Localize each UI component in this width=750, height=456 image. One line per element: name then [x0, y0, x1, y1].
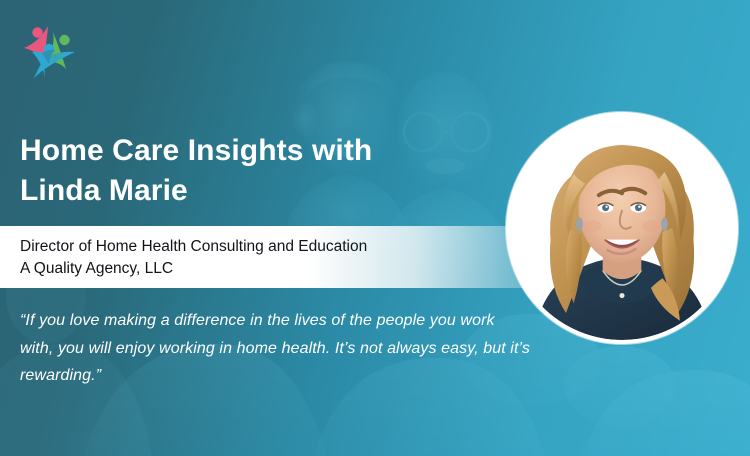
avatar — [506, 112, 738, 344]
pull-quote: “If you love making a difference in the … — [20, 307, 530, 390]
headline-line-1: Home Care Insights with — [20, 133, 490, 170]
headline-line-2: Linda Marie — [20, 173, 490, 210]
headshot-illustration — [510, 116, 734, 340]
credentials-text: Director of Home Health Consulting and E… — [20, 236, 367, 280]
promo-banner: Home Care Insights with Linda Marie Dire… — [0, 0, 750, 456]
credentials-line-1: Director of Home Health Consulting and E… — [20, 236, 367, 258]
credentials-line-2: A Quality Agency, LLC — [20, 258, 367, 280]
three-figures-logo — [18, 22, 84, 78]
page-title: Home Care Insights with Linda Marie — [20, 133, 490, 209]
